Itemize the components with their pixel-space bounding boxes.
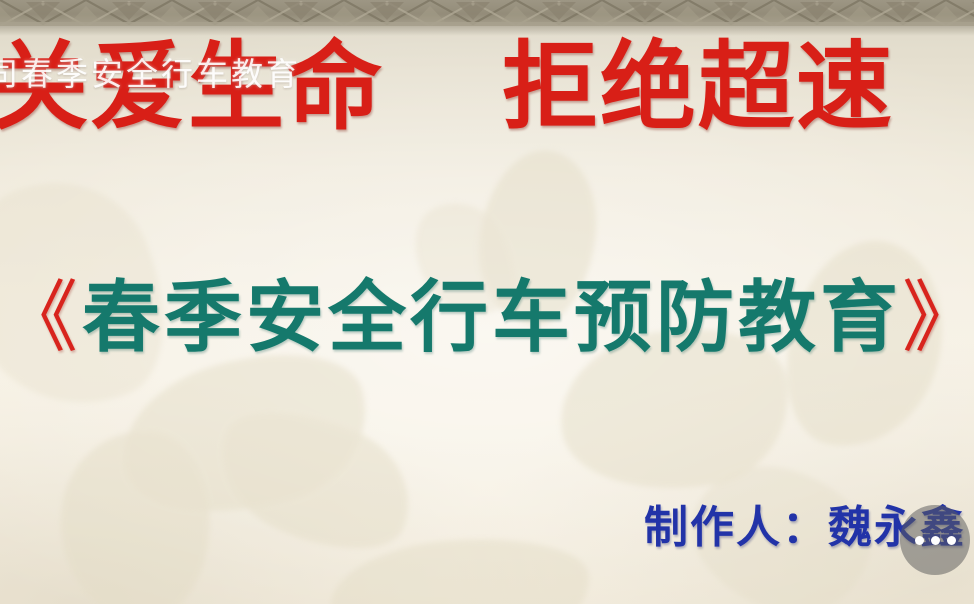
dot-2 xyxy=(931,536,940,545)
three-dots-icon[interactable] xyxy=(900,505,970,575)
ghost-caption-overlay: 司春季安全行车教育 xyxy=(0,58,301,90)
open-bracket: 《 xyxy=(0,273,82,363)
author-credit-label: 制作人： xyxy=(644,502,828,553)
decorative-top-border xyxy=(0,0,974,26)
slogan-right: 拒绝超速 xyxy=(502,36,894,140)
page-title: 《春季安全行车预防教育》 xyxy=(0,276,974,360)
close-bracket: 》 xyxy=(902,273,974,363)
page-title-text: 春季安全行车预防教育 xyxy=(82,273,902,363)
dot-3 xyxy=(947,536,956,545)
dot-1 xyxy=(915,536,924,545)
presentation-slide: 关爱生命 拒绝超速 司春季安全行车教育 《春季安全行车预防教育》 制作人：魏永鑫 xyxy=(0,0,974,604)
